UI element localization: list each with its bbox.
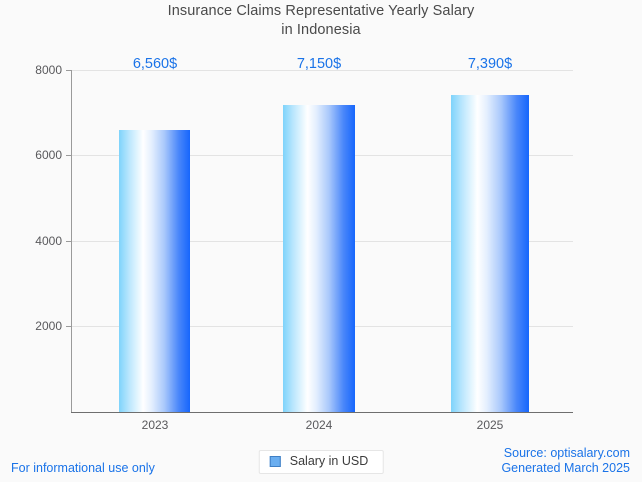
y-axis-tick-label-6000: 6000 (20, 149, 62, 161)
bar-value-label-2025: 7,390$ (434, 56, 546, 72)
x-axis-tick-label-2025: 2025 (434, 418, 546, 432)
legend-swatch-icon (270, 456, 281, 467)
footer-source: Source: optisalary.com (501, 446, 630, 461)
chart-legend[interactable]: Salary in USD (259, 450, 384, 474)
bar-value-label-2024: 7,150$ (263, 56, 375, 72)
y-axis-line (71, 70, 72, 413)
bar-value-label-2023: 6,560$ (99, 56, 211, 72)
footer-disclaimer: For informational use only (11, 461, 155, 476)
bar-2023[interactable] (119, 130, 190, 412)
legend-item-label-salary-in-usd: Salary in USD (290, 455, 369, 468)
bar-2024[interactable] (283, 105, 355, 412)
x-axis-tick-label-2024: 2024 (263, 418, 375, 432)
chart-title-line-2: in Indonesia (0, 21, 642, 40)
bar-2025[interactable] (451, 95, 529, 412)
chart-title: Insurance Claims Representative Yearly S… (0, 2, 642, 40)
chart-title-line-1: Insurance Claims Representative Yearly S… (168, 3, 475, 19)
chart-container: Insurance Claims Representative Yearly S… (0, 0, 642, 482)
x-axis-tick-label-2023: 2023 (99, 418, 211, 432)
footer-attribution: Source: optisalary.com Generated March 2… (501, 446, 630, 476)
x-axis-line (71, 412, 573, 413)
y-axis-tick-label-8000: 8000 (20, 64, 62, 76)
y-axis-tick-label-4000: 4000 (20, 235, 62, 247)
footer-generated-date: Generated March 2025 (501, 461, 630, 476)
y-axis-tick-label-2000: 2000 (20, 320, 62, 332)
